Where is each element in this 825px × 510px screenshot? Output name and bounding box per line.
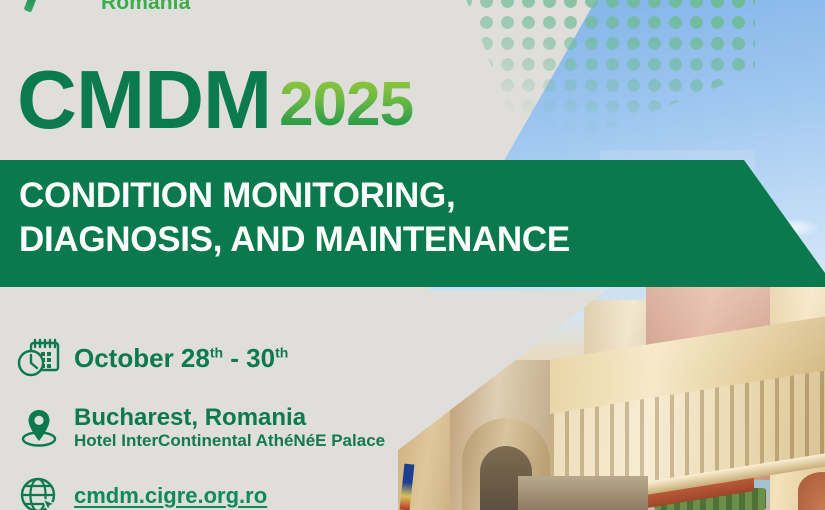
subtitle-line-2: DIAGNOSIS, AND MAINTENANCE: [19, 220, 570, 260]
bucharest-cityscape-photo: [398, 280, 825, 510]
date-separator: -: [223, 343, 246, 373]
cigre-logo-mark-icon: [24, 0, 41, 13]
event-date-text: October 28th - 30th: [74, 343, 288, 374]
subtitle-line-1: CONDITION MONITORING,: [19, 176, 455, 216]
event-location-text-group: Bucharest, Romania Hotel InterContinenta…: [74, 405, 385, 451]
map-pin-icon: [14, 404, 64, 452]
event-title: CMDM 2025: [17, 62, 413, 138]
date-day-end: 30: [246, 343, 275, 373]
subtitle-banner: CONDITION MONITORING, DIAGNOSIS, AND MAI…: [0, 160, 825, 273]
date-ordinal-end: th: [275, 344, 288, 360]
banner-bottom-strip: [0, 273, 825, 287]
event-date-text-group: October 28th - 30th: [74, 343, 288, 374]
conference-banner: Romania CMDM 2025 CONDITION MONITORING, …: [0, 0, 825, 510]
event-venue: Hotel InterContinental AthéNéE Palace: [74, 431, 385, 451]
event-website-row[interactable]: cmdm.cigre.org.ro: [14, 472, 267, 510]
event-location-row: Bucharest, Romania Hotel InterContinenta…: [14, 404, 385, 452]
date-month: October: [74, 343, 181, 373]
event-city: Bucharest, Romania: [74, 405, 385, 431]
event-website-text-group[interactable]: cmdm.cigre.org.ro: [74, 483, 267, 509]
event-year: 2025: [279, 74, 413, 136]
globe-cursor-icon: [14, 472, 64, 510]
event-acronym: CMDM: [17, 62, 271, 138]
event-date-row: October 28th - 30th: [14, 334, 288, 382]
cigre-country-label: Romania: [101, 0, 190, 15]
date-day-start: 28: [181, 343, 210, 373]
calendar-clock-icon: [14, 334, 64, 382]
city-photo-haze: [398, 280, 825, 510]
event-website-link[interactable]: cmdm.cigre.org.ro: [74, 483, 267, 508]
date-ordinal-start: th: [210, 344, 223, 360]
